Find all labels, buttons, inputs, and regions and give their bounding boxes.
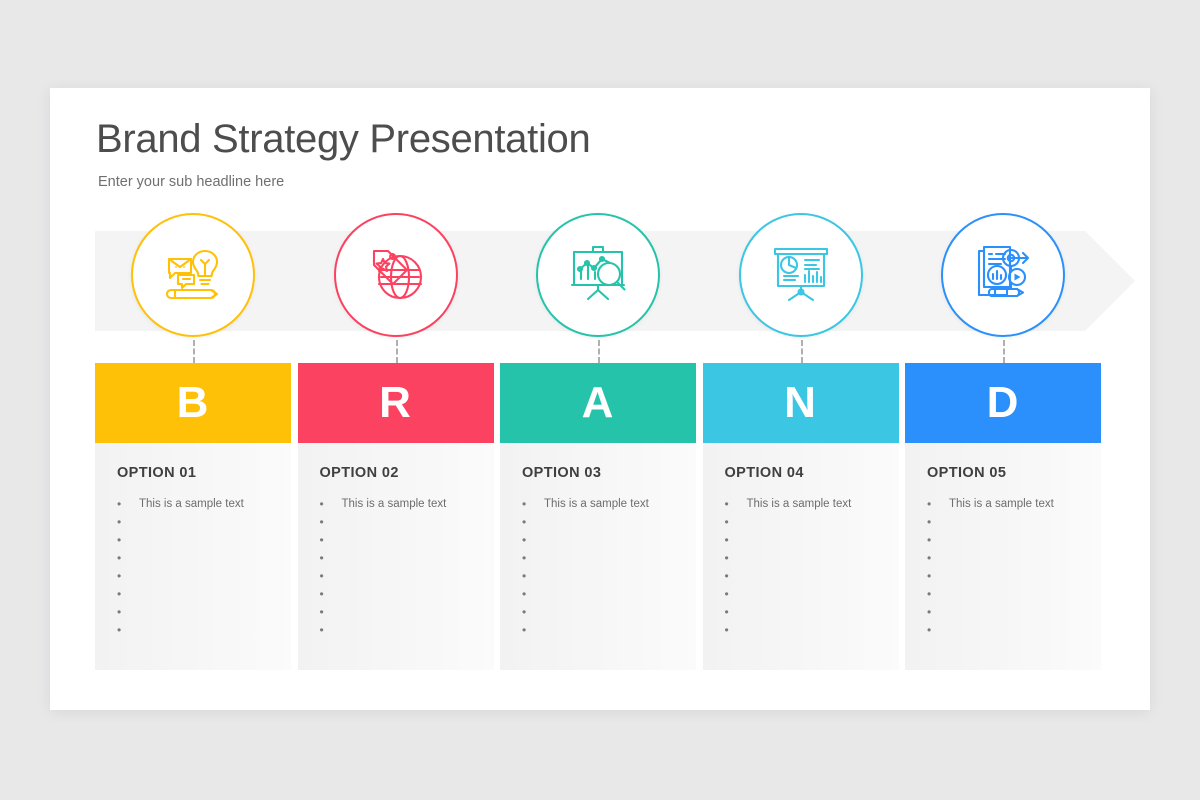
icon-circle-4[interactable] bbox=[739, 213, 863, 337]
list-item bbox=[320, 621, 480, 639]
list-item: This is a sample text bbox=[725, 495, 885, 513]
option-panel-1: OPTION 01 This is a sample text bbox=[95, 443, 291, 670]
page-title: Brand Strategy Presentation bbox=[96, 117, 590, 162]
report-target-media-icon bbox=[971, 241, 1035, 310]
option-column-5: D OPTION 05 This is a sample text bbox=[905, 363, 1101, 670]
option-panel-4: OPTION 04 This is a sample text bbox=[703, 443, 899, 670]
option-columns: B OPTION 01 This is a sample text R OPTI… bbox=[95, 363, 1105, 678]
letter-bar-a: A bbox=[500, 363, 696, 443]
list-item bbox=[320, 531, 480, 549]
list-item bbox=[320, 549, 480, 567]
option-title: OPTION 03 bbox=[522, 465, 682, 481]
presentation-pie-bar-icon bbox=[769, 241, 833, 310]
list-item: This is a sample text bbox=[117, 495, 277, 513]
option-column-3: A OPTION 03 This is a sample text bbox=[500, 363, 696, 670]
list-item bbox=[725, 549, 885, 567]
list-item bbox=[522, 531, 682, 549]
option-panel-3: OPTION 03 This is a sample text bbox=[500, 443, 696, 670]
list-item bbox=[927, 531, 1087, 549]
list-item: This is a sample text bbox=[927, 495, 1087, 513]
option-column-4: N OPTION 04 This is a sample text bbox=[703, 363, 899, 670]
letter-bar-d: D bbox=[905, 363, 1101, 443]
list-item bbox=[117, 513, 277, 531]
list-item bbox=[725, 603, 885, 621]
list-item bbox=[117, 603, 277, 621]
list-item bbox=[522, 513, 682, 531]
list-item bbox=[725, 585, 885, 603]
bullet-list: This is a sample text bbox=[725, 495, 885, 639]
icon-circle-3[interactable] bbox=[536, 213, 660, 337]
presentation-chart-search-icon bbox=[566, 241, 630, 310]
list-item bbox=[522, 603, 682, 621]
option-column-2: R OPTION 02 This is a sample text bbox=[298, 363, 494, 670]
list-item bbox=[522, 621, 682, 639]
list-item bbox=[320, 567, 480, 585]
list-item bbox=[320, 513, 480, 531]
letter-bar-n: N bbox=[703, 363, 899, 443]
list-item bbox=[117, 585, 277, 603]
option-panel-2: OPTION 02 This is a sample text bbox=[298, 443, 494, 670]
list-item bbox=[320, 603, 480, 621]
option-panel-5: OPTION 05 This is a sample text bbox=[905, 443, 1101, 670]
list-item bbox=[725, 513, 885, 531]
list-item bbox=[927, 549, 1087, 567]
connector-dash bbox=[396, 340, 398, 363]
icon-circle-row bbox=[95, 213, 1145, 353]
letter-bar-r: R bbox=[298, 363, 494, 443]
list-item bbox=[117, 621, 277, 639]
icon-circle-2[interactable] bbox=[334, 213, 458, 337]
presentation-slide: Brand Strategy Presentation Enter your s… bbox=[50, 88, 1150, 710]
icon-circle-5[interactable] bbox=[941, 213, 1065, 337]
option-column-1: B OPTION 01 This is a sample text bbox=[95, 363, 291, 670]
connector-dash bbox=[193, 340, 195, 363]
connector-dash bbox=[598, 340, 600, 363]
list-item bbox=[927, 621, 1087, 639]
bullet-list: This is a sample text bbox=[320, 495, 480, 639]
list-item bbox=[117, 549, 277, 567]
list-item bbox=[117, 567, 277, 585]
list-item bbox=[725, 621, 885, 639]
list-item bbox=[522, 585, 682, 603]
page-subtitle: Enter your sub headline here bbox=[98, 174, 284, 190]
bullet-list: This is a sample text bbox=[927, 495, 1087, 639]
icon-circle-1[interactable] bbox=[131, 213, 255, 337]
list-item bbox=[117, 531, 277, 549]
option-title: OPTION 04 bbox=[725, 465, 885, 481]
bullet-list: This is a sample text bbox=[522, 495, 682, 639]
bullet-list: This is a sample text bbox=[117, 495, 277, 639]
list-item bbox=[725, 531, 885, 549]
option-title: OPTION 05 bbox=[927, 465, 1087, 481]
list-item bbox=[927, 567, 1087, 585]
list-item bbox=[927, 513, 1087, 531]
list-item: This is a sample text bbox=[320, 495, 480, 513]
connector-dash bbox=[801, 340, 803, 363]
letter-bar-b: B bbox=[95, 363, 291, 443]
globe-tag-star-icon bbox=[364, 241, 428, 310]
list-item bbox=[725, 567, 885, 585]
list-item bbox=[522, 567, 682, 585]
list-item bbox=[927, 585, 1087, 603]
list-item bbox=[522, 549, 682, 567]
email-lightbulb-pencil-icon bbox=[161, 241, 225, 310]
option-title: OPTION 02 bbox=[320, 465, 480, 481]
list-item bbox=[927, 603, 1087, 621]
list-item bbox=[320, 585, 480, 603]
list-item: This is a sample text bbox=[522, 495, 682, 513]
option-title: OPTION 01 bbox=[117, 465, 277, 481]
connector-dash bbox=[1003, 340, 1005, 363]
